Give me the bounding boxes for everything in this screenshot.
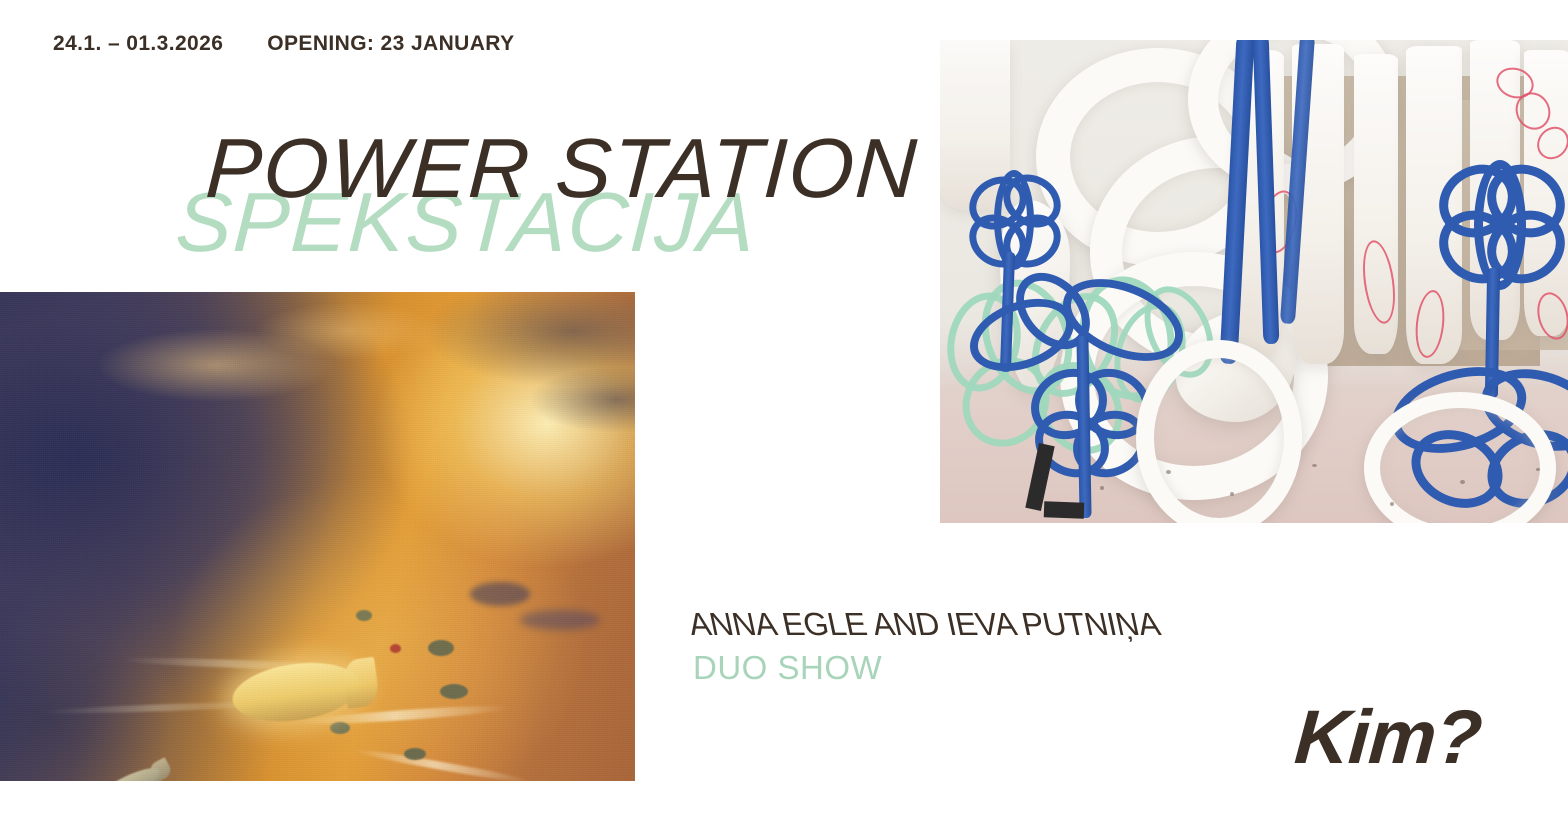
opening-date: OPENING: 23 JANUARY bbox=[267, 32, 514, 56]
show-type: DUO SHOW bbox=[693, 647, 1163, 688]
painting-canvas-grain bbox=[0, 292, 635, 781]
artwork-sculpture-photo bbox=[940, 40, 1568, 523]
floor-speck bbox=[1166, 470, 1171, 474]
floor-speck bbox=[1100, 486, 1104, 490]
exhibition-dates: 24.1. – 01.3.2026 bbox=[53, 32, 223, 56]
title-block: SPEKSTACIJA POWER STATION bbox=[0, 108, 900, 258]
header-meta: 24.1. – 01.3.2026 OPENING: 23 JANUARY bbox=[53, 32, 514, 56]
floor-tape-mark bbox=[1044, 501, 1085, 518]
floor-speck bbox=[1230, 492, 1234, 496]
floor-speck bbox=[1312, 464, 1317, 467]
exhibition-poster: 24.1. – 01.3.2026 OPENING: 23 JANUARY SP… bbox=[0, 0, 1568, 821]
floor-speck bbox=[1390, 502, 1394, 506]
floor-speck bbox=[1536, 468, 1540, 471]
floor-speck bbox=[1460, 480, 1465, 484]
ceramic-rod bbox=[1136, 340, 1302, 523]
exhibition-title-english: POWER STATION bbox=[204, 126, 920, 210]
artists-block: ANNA EGLE AND IEVA PUTNIŅA DUO SHOW bbox=[693, 607, 1163, 688]
kim-logo: Kim? bbox=[1292, 700, 1483, 776]
artist-names: ANNA EGLE AND IEVA PUTNIŅA bbox=[685, 607, 1163, 643]
artwork-underwater-painting bbox=[0, 292, 635, 781]
